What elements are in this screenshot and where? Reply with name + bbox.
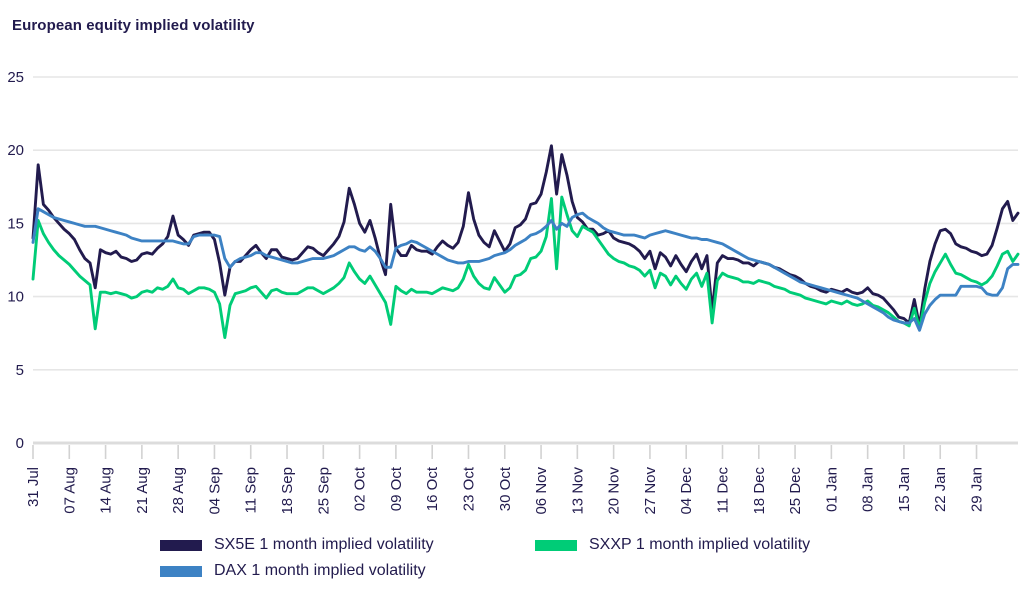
legend-swatch-sx5e [160, 540, 202, 551]
x-axis-tick-label: 21 Aug [134, 467, 151, 514]
x-axis-tick-label: 08 Jan [860, 467, 877, 512]
chart-legend: SX5E 1 month implied volatility SXXP 1 m… [160, 532, 960, 584]
x-axis-tick-label: 25 Dec [787, 467, 804, 515]
legend-item-dax[interactable]: DAX 1 month implied volatility [160, 558, 535, 584]
legend-swatch-sxxp [535, 540, 577, 551]
x-axis-tick-label: 16 Oct [424, 466, 441, 511]
legend-row-2: DAX 1 month implied volatility [160, 558, 960, 584]
x-axis-tick-label: 13 Nov [569, 467, 586, 515]
x-axis-tick-label: 23 Oct [460, 466, 477, 511]
legend-label-dax: DAX 1 month implied volatility [214, 562, 426, 580]
x-axis-tick-label: 28 Aug [170, 467, 187, 514]
x-axis-tick-label: 15 Jan [896, 467, 913, 512]
y-axis-tick-label: 20 [7, 142, 24, 159]
legend-item-sxxp[interactable]: SXXP 1 month implied volatility [535, 532, 810, 558]
x-axis [33, 445, 977, 459]
x-axis-tick-label: 14 Aug [98, 467, 115, 514]
x-axis-tick-label: 11 Sep [243, 467, 260, 513]
series-line-0 [33, 146, 1018, 326]
x-axis-tick-label: 04 Dec [678, 467, 695, 515]
x-axis-tick-label: 25 Sep [315, 467, 332, 515]
x-axis-tick-label: 11 Dec [715, 467, 732, 514]
x-axis-tick-label: 27 Nov [642, 467, 659, 515]
x-axis-tick-label: 02 Oct [352, 466, 369, 511]
gridlines [33, 77, 1018, 443]
x-axis-tick-label: 22 Jan [932, 467, 949, 512]
x-axis-tick-labels: 31 Jul07 Aug14 Aug21 Aug28 Aug04 Sep11 S… [25, 466, 986, 514]
legend-swatch-dax [160, 566, 202, 577]
x-axis-tick-label: 20 Nov [606, 467, 623, 515]
x-axis-tick-label: 18 Sep [279, 467, 296, 515]
legend-item-sx5e[interactable]: SX5E 1 month implied volatility [160, 532, 535, 558]
x-axis-tick-label: 04 Sep [206, 467, 223, 515]
chart-plot-area: 0510152025 31 Jul07 Aug14 Aug21 Aug28 Au… [0, 0, 1024, 525]
x-axis-tick-label: 01 Jan [823, 467, 840, 512]
y-axis-tick-label: 25 [7, 69, 24, 86]
y-axis-tick-label: 5 [16, 362, 24, 379]
x-axis-tick-label: 09 Oct [388, 466, 405, 511]
x-axis-tick-label: 06 Nov [533, 467, 550, 515]
x-axis-tick-label: 29 Jan [969, 467, 986, 512]
series-lines [33, 146, 1018, 338]
x-axis-tick-label: 18 Dec [751, 467, 768, 515]
legend-label-sx5e: SX5E 1 month implied volatility [214, 536, 434, 554]
legend-row-1: SX5E 1 month implied volatility SXXP 1 m… [160, 532, 960, 558]
x-axis-tick-label: 07 Aug [61, 467, 78, 514]
chart-page: European equity implied volatility 05101… [0, 0, 1024, 609]
x-axis-tick-label: 31 Jul [25, 467, 42, 507]
x-axis-tick-label: 30 Oct [497, 466, 514, 511]
y-axis-tick-label: 15 [7, 215, 24, 232]
y-axis-tick-label: 10 [7, 289, 24, 306]
y-axis-tick-labels: 0510152025 [7, 69, 24, 452]
y-axis-tick-label: 0 [16, 435, 24, 452]
legend-label-sxxp: SXXP 1 month implied volatility [589, 536, 810, 554]
